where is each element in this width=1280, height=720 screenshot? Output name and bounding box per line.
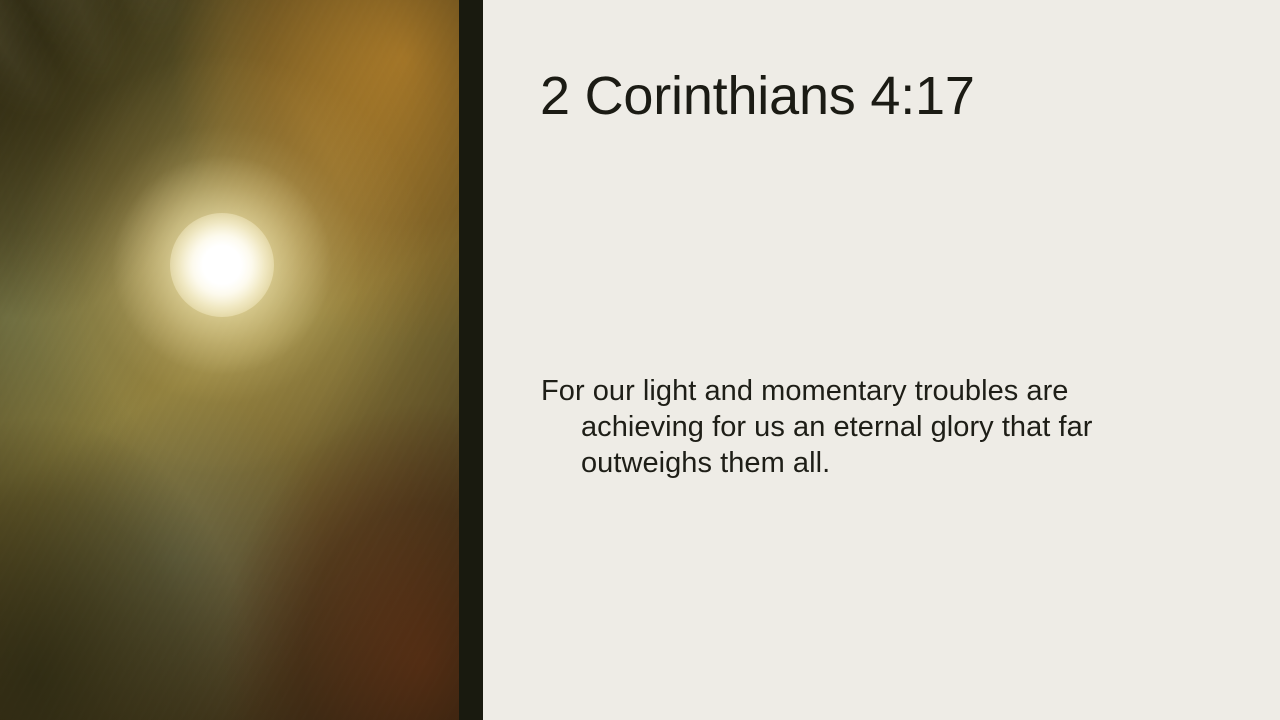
slide-content-panel: 2 Corinthians 4:17 For our light and mom… bbox=[483, 0, 1280, 720]
slide: 2 Corinthians 4:17 For our light and mom… bbox=[0, 0, 1280, 720]
sunburst-image bbox=[0, 0, 459, 720]
slide-body-text: For our light and momentary troubles are… bbox=[541, 373, 1181, 481]
slide-image-panel bbox=[0, 0, 459, 720]
sunburst-vignette-layer bbox=[0, 0, 459, 720]
slide-title: 2 Corinthians 4:17 bbox=[540, 66, 1240, 126]
vertical-divider-bar bbox=[459, 0, 483, 720]
